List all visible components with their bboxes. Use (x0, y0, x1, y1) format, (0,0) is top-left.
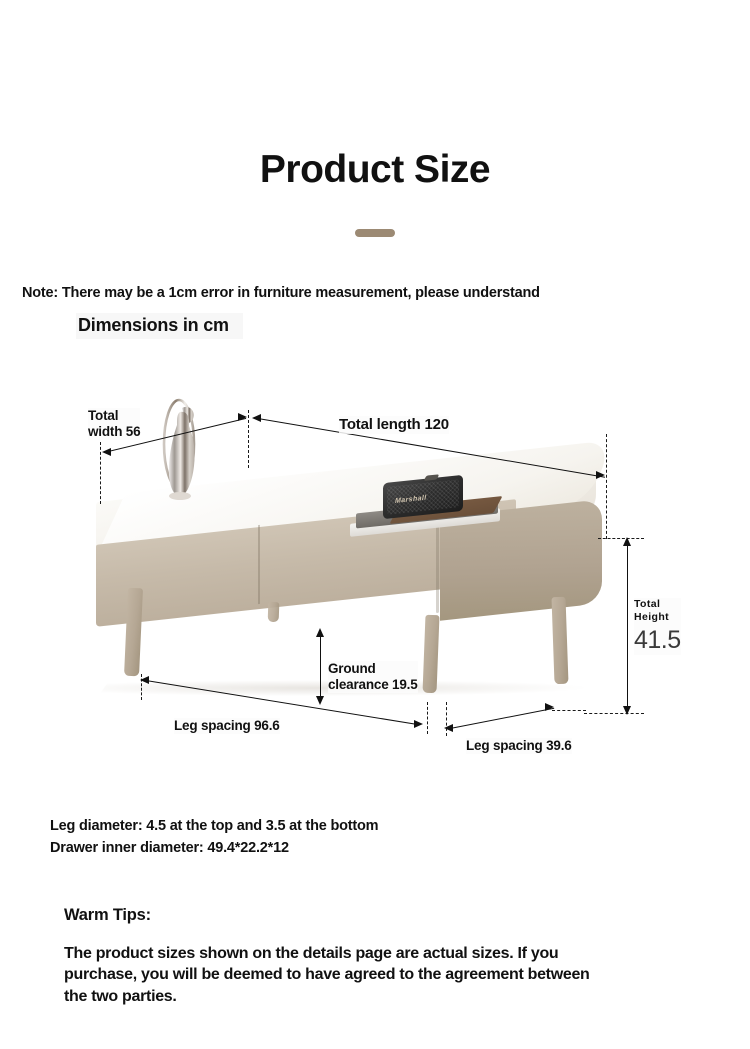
width-arrow-right (238, 413, 247, 421)
total-height-label-line2: Height (634, 611, 669, 623)
height-arrow-bottom (623, 706, 631, 715)
drawer-divider (258, 525, 260, 604)
product-diagram: Marshall Total width 56 Total length 120… (0, 380, 750, 800)
clearance-dimension-line (320, 630, 321, 702)
warm-tips-body: The product sizes shown on the details p… (64, 943, 604, 1007)
legspacing-short-dimension-line (450, 708, 554, 729)
table-leg-front-left (124, 588, 143, 677)
table-leg-back-left (268, 602, 280, 622)
height-extension-bottom (584, 713, 644, 714)
table-leg-back-right (551, 597, 568, 684)
measurement-note: Note: There may be a 1cm error in furnit… (22, 285, 540, 301)
total-height-label-line1: Total (634, 598, 660, 610)
width-extension-left (100, 442, 101, 504)
clearance-arrow-bottom (316, 696, 324, 705)
leg-spacing-long-label: Leg spacing 96.6 (174, 718, 280, 734)
leg-diameter-spec: Leg diameter: 4.5 at the top and 3.5 at … (50, 818, 378, 834)
length-extension-right (606, 434, 607, 539)
speaker-knob (424, 474, 440, 481)
legspacing-short-arrow-left (444, 724, 453, 732)
ground-clearance-label-line1: Ground (328, 661, 376, 676)
leg-spacing-short-label: Leg spacing 39.6 (466, 738, 572, 754)
length-arrow-right (596, 471, 605, 479)
height-extension-top (598, 538, 644, 539)
height-dimension-line (627, 540, 628, 712)
drawer-inner-diameter-spec: Drawer inner diameter: 49.4*22.2*12 (50, 840, 289, 856)
legspacing-long-extension-right (427, 702, 428, 734)
warm-tips-title: Warm Tips: (64, 906, 151, 925)
ground-clearance-label: Ground clearance 19.5 (328, 661, 418, 693)
total-width-label-line1: Total (88, 408, 118, 423)
total-width-label-line2: width 56 (88, 424, 140, 439)
title-accent-bar (355, 229, 395, 237)
decor-pitcher (160, 392, 208, 504)
total-height-label: Total Height 41.5 (634, 598, 681, 655)
page-title: Product Size (0, 148, 750, 192)
units-label: Dimensions in cm (76, 313, 243, 339)
ground-clearance-label-line2: clearance 19.5 (328, 677, 418, 692)
total-width-label: Total width 56 (88, 408, 140, 440)
legspacing-short-arrow-right (545, 703, 554, 711)
legspacing-short-extension-right (552, 710, 586, 711)
width-arrow-left (102, 448, 111, 456)
height-arrow-top (623, 537, 631, 546)
drawer-corner-edge (436, 513, 439, 613)
total-height-value: 41.5 (634, 625, 681, 656)
clearance-arrow-top (316, 628, 324, 637)
length-arrow-left (252, 414, 261, 422)
total-length-label: Total length 120 (339, 416, 449, 434)
width-extension-right (248, 410, 249, 468)
legspacing-long-arrow-right (414, 720, 423, 728)
legspacing-long-arrow-left (140, 676, 149, 684)
product-size-page: Product Size Note: There may be a 1cm er… (0, 0, 750, 1049)
